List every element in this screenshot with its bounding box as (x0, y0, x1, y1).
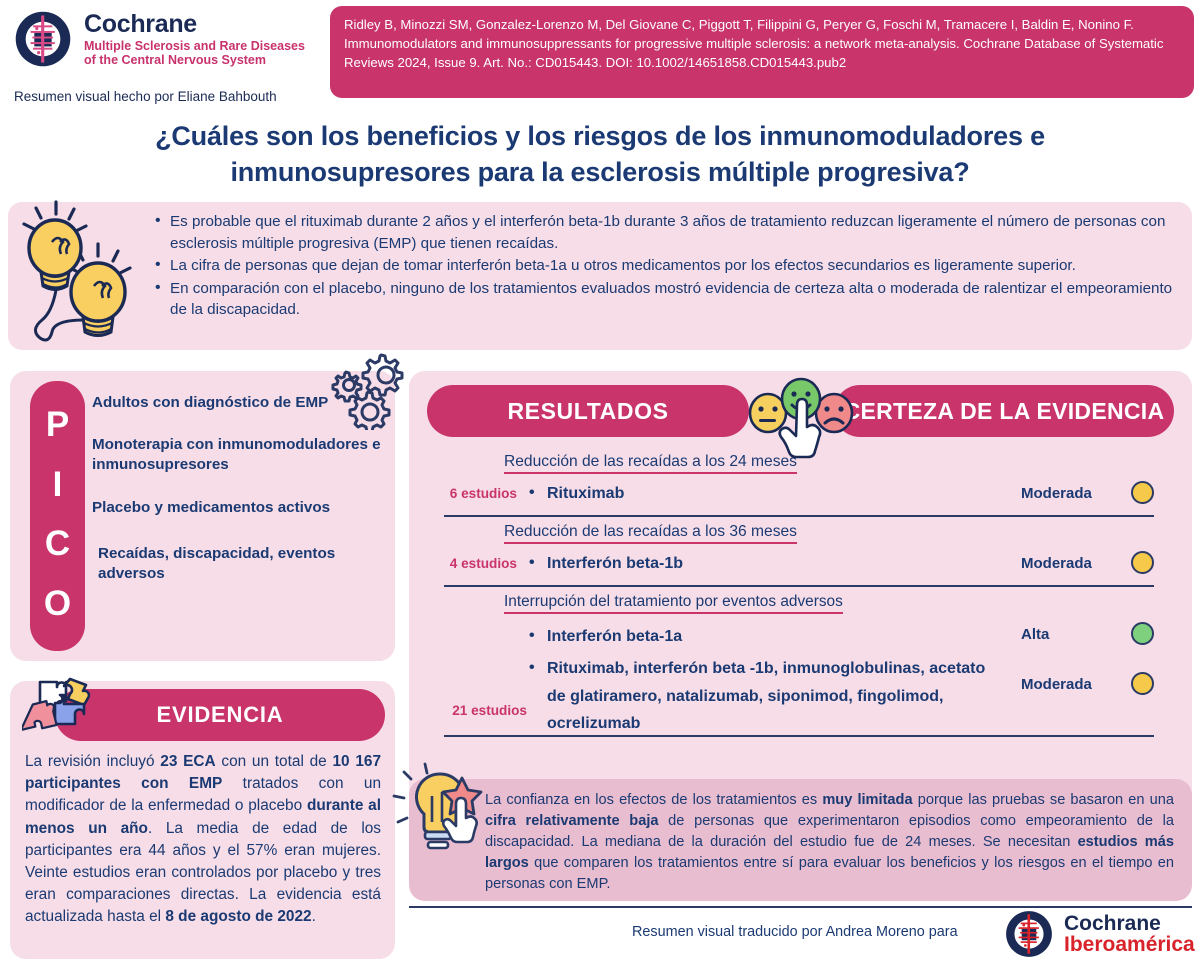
cochrane-logo-icon (12, 8, 74, 70)
list-item: Interferón beta-1a (529, 623, 999, 651)
outcome-label: Interrupción del tratamiento por eventos… (504, 593, 843, 614)
list-item: Rituximab, interferón beta -1b, inmunogl… (529, 655, 999, 738)
gears-icon (325, 352, 407, 430)
lightbulb-star-icon (392, 760, 492, 864)
intervention-list: Interferón beta-1a Rituximab, interferón… (529, 623, 999, 738)
certainty-dot-moderate (1131, 481, 1154, 504)
pico-letter-c: C (45, 526, 70, 561)
certainty-dot-high (1131, 622, 1154, 645)
logo-text-block: Cochrane Multiple Sclerosis and Rare Dis… (84, 11, 305, 66)
list-item: Interferón beta-1b (529, 552, 1009, 576)
key-messages-panel: Es probable que el rituximab durante 2 a… (8, 202, 1192, 350)
row-divider (444, 585, 1154, 587)
pico-letter-p: P (46, 407, 69, 442)
row-divider (444, 735, 1154, 737)
list-item: La cifra de personas que dejan de tomar … (153, 255, 1183, 277)
lightbulbs-icon (8, 196, 148, 354)
studies-count: 21 estudios (419, 703, 527, 718)
certainty-dot-moderate (1131, 551, 1154, 574)
certainty-dot-moderate (1131, 672, 1154, 695)
logo-subtitle-line2: of the Central Nervous System (84, 53, 305, 67)
logo-subtitle-line1: Multiple Sclerosis and Rare Diseases (84, 39, 305, 53)
page-title: ¿Cuáles son los beneficios y los riesgos… (60, 118, 1140, 190)
footer-logo-text: Cochrane Iberoamérica (1064, 913, 1195, 956)
evidence-banner-label: EVIDENCIA (157, 702, 284, 728)
byline: Resumen visual hecho por Eliane Bahbouth (14, 89, 277, 104)
translator-credit: Resumen visual traducido por Andrea More… (632, 924, 958, 940)
citation: Ridley B, Minozzi SM, Gonzalez-Lorenzo M… (330, 6, 1194, 98)
pico-comparison: Placebo y medicamentos activos (92, 498, 388, 518)
intervention-list: Interferón beta-1b (529, 552, 1009, 576)
certainty-label: Moderada (1021, 676, 1092, 693)
certainty-label: Moderada (1021, 555, 1092, 572)
pico-letter-bar: P I C O (30, 381, 85, 651)
list-item: Es probable que el rituximab durante 2 a… (153, 211, 1183, 254)
list-item: Rituximab (529, 482, 1009, 506)
evidence-banner: EVIDENCIA (55, 689, 385, 741)
list-item: En comparación con el placebo, ninguno d… (153, 278, 1183, 321)
pico-letter-i: I (53, 467, 63, 502)
certainty-banner: CERTEZA DE LA EVIDENCIA (834, 385, 1174, 437)
results-banner: RESULTADOS (427, 385, 749, 437)
pico-outcome: Recaídas, discapacidad, eventos adversos (92, 544, 388, 584)
row-divider (444, 515, 1154, 517)
logo-title: Cochrane (84, 11, 305, 37)
pico-letter-o: O (44, 586, 71, 621)
evidence-text: La revisión incluyó 23 ECA con un total … (25, 751, 381, 928)
studies-count: 6 estudios (419, 486, 517, 501)
intervention-list: Rituximab (529, 482, 1009, 506)
certainty-faces-icon (745, 369, 857, 461)
conclusion-box: La confianza en los efectos de los trata… (409, 779, 1192, 901)
puzzle-pieces-icon (22, 675, 100, 739)
studies-count: 4 estudios (419, 556, 517, 571)
certainty-banner-label: CERTEZA DE LA EVIDENCIA (844, 398, 1165, 425)
cochrane-logo-icon (1003, 908, 1055, 960)
certainty-label: Alta (1021, 626, 1049, 643)
certainty-label: Moderada (1021, 485, 1092, 502)
footer-logo-line2: Iberoamérica (1064, 934, 1195, 955)
infographic-page: Cochrane Multiple Sclerosis and Rare Dis… (0, 0, 1200, 970)
results-banner-label: RESULTADOS (507, 398, 668, 425)
cochrane-iberoamerica-logo: Cochrane Iberoamérica (1003, 908, 1195, 960)
cochrane-logo: Cochrane Multiple Sclerosis and Rare Dis… (12, 8, 305, 70)
key-messages-list: Es probable que el rituximab durante 2 a… (153, 211, 1183, 322)
header: Cochrane Multiple Sclerosis and Rare Dis… (0, 0, 1200, 110)
footer-logo-line1: Cochrane (1064, 913, 1195, 934)
pico-intervention: Monoterapia con inmunomoduladores e inmu… (92, 435, 388, 475)
outcome-label: Reducción de las recaídas a los 36 meses (504, 523, 797, 544)
